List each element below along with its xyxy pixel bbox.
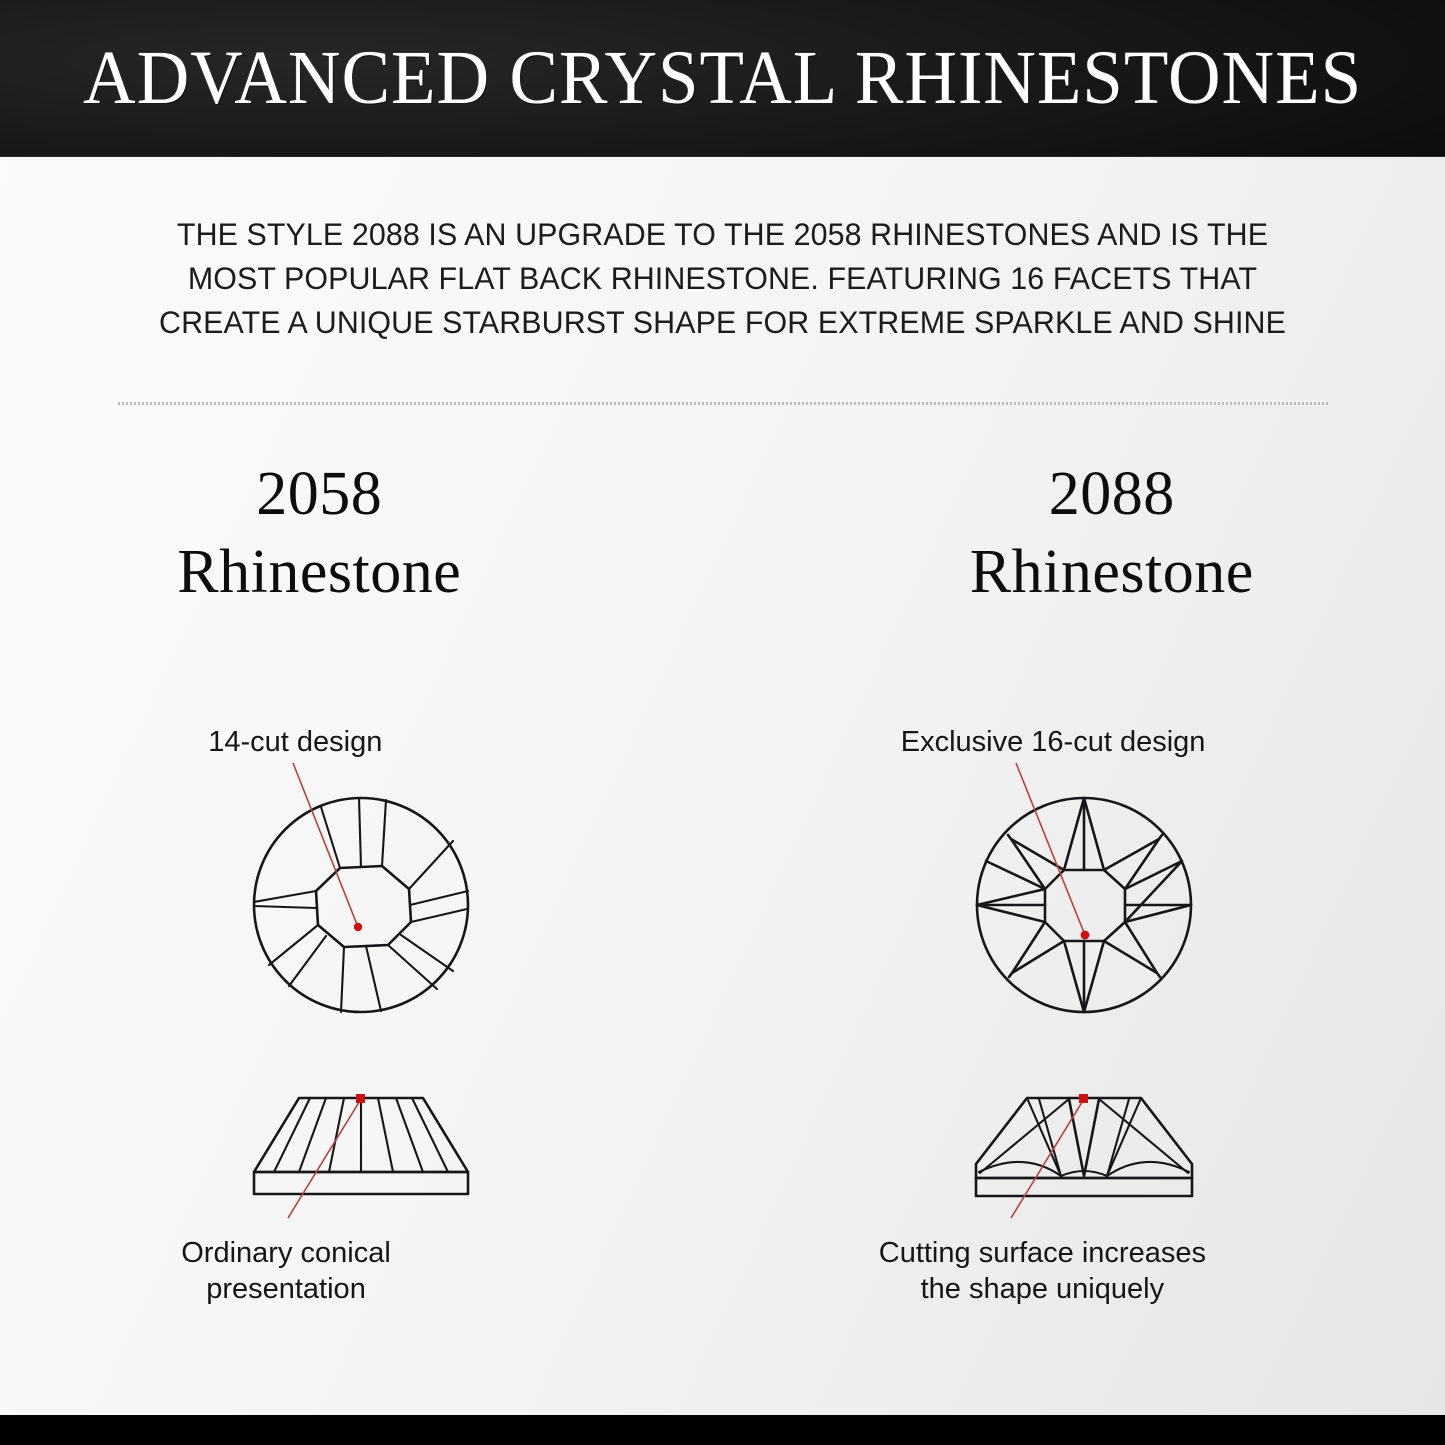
conical-profile-icon [226, 1080, 496, 1210]
caption-line-1: Cutting surface increases [879, 1235, 1206, 1271]
intro-line-3: CREATE A UNIQUE STARBURST SHAPE FOR EXTR… [117, 300, 1328, 344]
column-2088: 2088 Rhinestone Exclusive 16-cut design [723, 455, 1445, 1355]
caption-line-2: the shape uniquely [879, 1271, 1206, 1307]
section-divider [118, 402, 1328, 405]
column-2088-code: 2088 [970, 455, 1254, 533]
comparison-columns: 2058 Rhinestone 14-cut design [0, 455, 1445, 1355]
column-2058-word: Rhinestone [177, 533, 461, 611]
infographic-page: ADVANCED CRYSTAL RHINESTONES THE STYLE 2… [0, 0, 1445, 1445]
caption-cutting-surface: Cutting surface increases the shape uniq… [879, 1235, 1206, 1307]
label-16-cut-design: Exclusive 16-cut design [901, 725, 1206, 759]
column-2058-code: 2058 [177, 455, 461, 533]
page-title: ADVANCED CRYSTAL RHINESTONES [83, 40, 1362, 116]
header-banner: ADVANCED CRYSTAL RHINESTONES [0, 0, 1445, 157]
column-2058: 2058 Rhinestone 14-cut design [0, 455, 723, 1355]
caption-line-2: presentation [181, 1271, 391, 1307]
radial-facet-circle-icon [231, 775, 491, 1035]
starburst-facet-circle-icon [954, 775, 1214, 1035]
footer-bar [0, 1415, 1445, 1445]
intro-line-1: THE STYLE 2088 IS AN UPGRADE TO THE 2058… [117, 212, 1328, 256]
starburst-profile-icon [949, 1080, 1219, 1210]
column-2088-word: Rhinestone [970, 533, 1254, 611]
column-2088-heading: 2088 Rhinestone [970, 455, 1254, 611]
caption-line-1: Ordinary conical [181, 1235, 391, 1271]
intro-line-2: MOST POPULAR FLAT BACK RHINESTONE. FEATU… [117, 256, 1328, 300]
caption-ordinary-conical: Ordinary conical presentation [181, 1235, 391, 1307]
column-2058-heading: 2058 Rhinestone [177, 455, 461, 611]
label-14-cut-design: 14-cut design [208, 725, 382, 759]
intro-paragraph: THE STYLE 2088 IS AN UPGRADE TO THE 2058… [0, 212, 1445, 344]
